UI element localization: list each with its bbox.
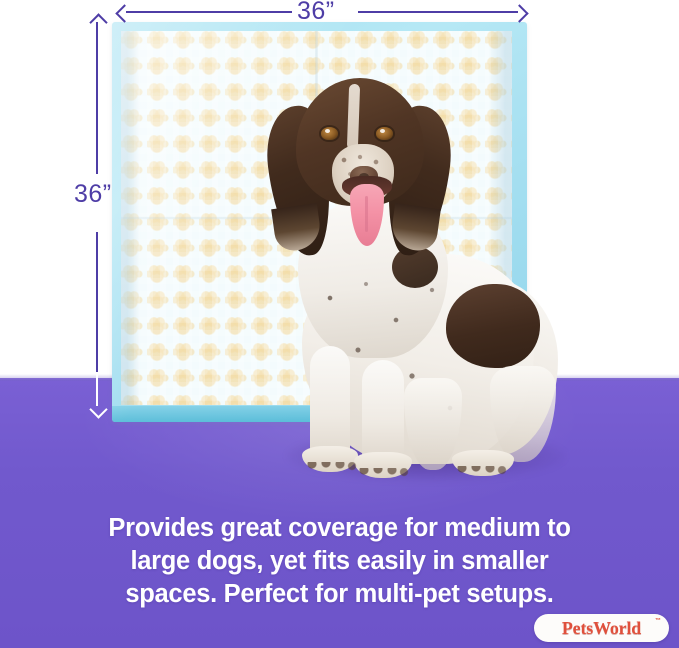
caption-line-3: spaces. Perfect for multi-pet setups. bbox=[0, 578, 679, 611]
dog-toes-rear bbox=[454, 466, 514, 476]
dimension-line-top bbox=[96, 22, 98, 174]
caption-line-2: large dogs, yet fits easily in smaller bbox=[0, 545, 679, 578]
dog-front-leg-right bbox=[362, 360, 404, 464]
dimension-line-right bbox=[358, 11, 518, 13]
dimension-label-width: 36” bbox=[297, 0, 335, 24]
dimension-line-bottom bbox=[96, 232, 98, 372]
dog-toes-right bbox=[356, 468, 412, 478]
caption-text: Provides great coverage for medium to la… bbox=[0, 512, 679, 611]
dog-eye-left bbox=[321, 127, 338, 140]
dog-face-blaze bbox=[347, 84, 360, 150]
arrow-down-icon bbox=[89, 400, 107, 418]
dimension-line-left bbox=[126, 11, 292, 13]
caption-line-1: Provides great coverage for medium to bbox=[0, 512, 679, 545]
brand-name: PetsWorld bbox=[562, 618, 641, 639]
dog-toes-left bbox=[304, 462, 358, 472]
arrow-up-icon bbox=[89, 13, 107, 31]
trademark-icon: ™ bbox=[655, 618, 661, 624]
dog-photo bbox=[276, 78, 576, 498]
arrow-right-icon bbox=[510, 4, 528, 22]
brand-logo: PetsWorld ™ bbox=[534, 614, 669, 642]
dimension-label-height: 36” bbox=[74, 182, 112, 207]
dog-eye-right bbox=[376, 127, 393, 140]
dimension-arrow-vertical bbox=[88, 14, 106, 418]
dog-front-leg-left bbox=[310, 346, 350, 462]
product-marketing-image: 36” 36” bbox=[0, 0, 679, 648]
arrow-left-icon bbox=[115, 4, 133, 22]
